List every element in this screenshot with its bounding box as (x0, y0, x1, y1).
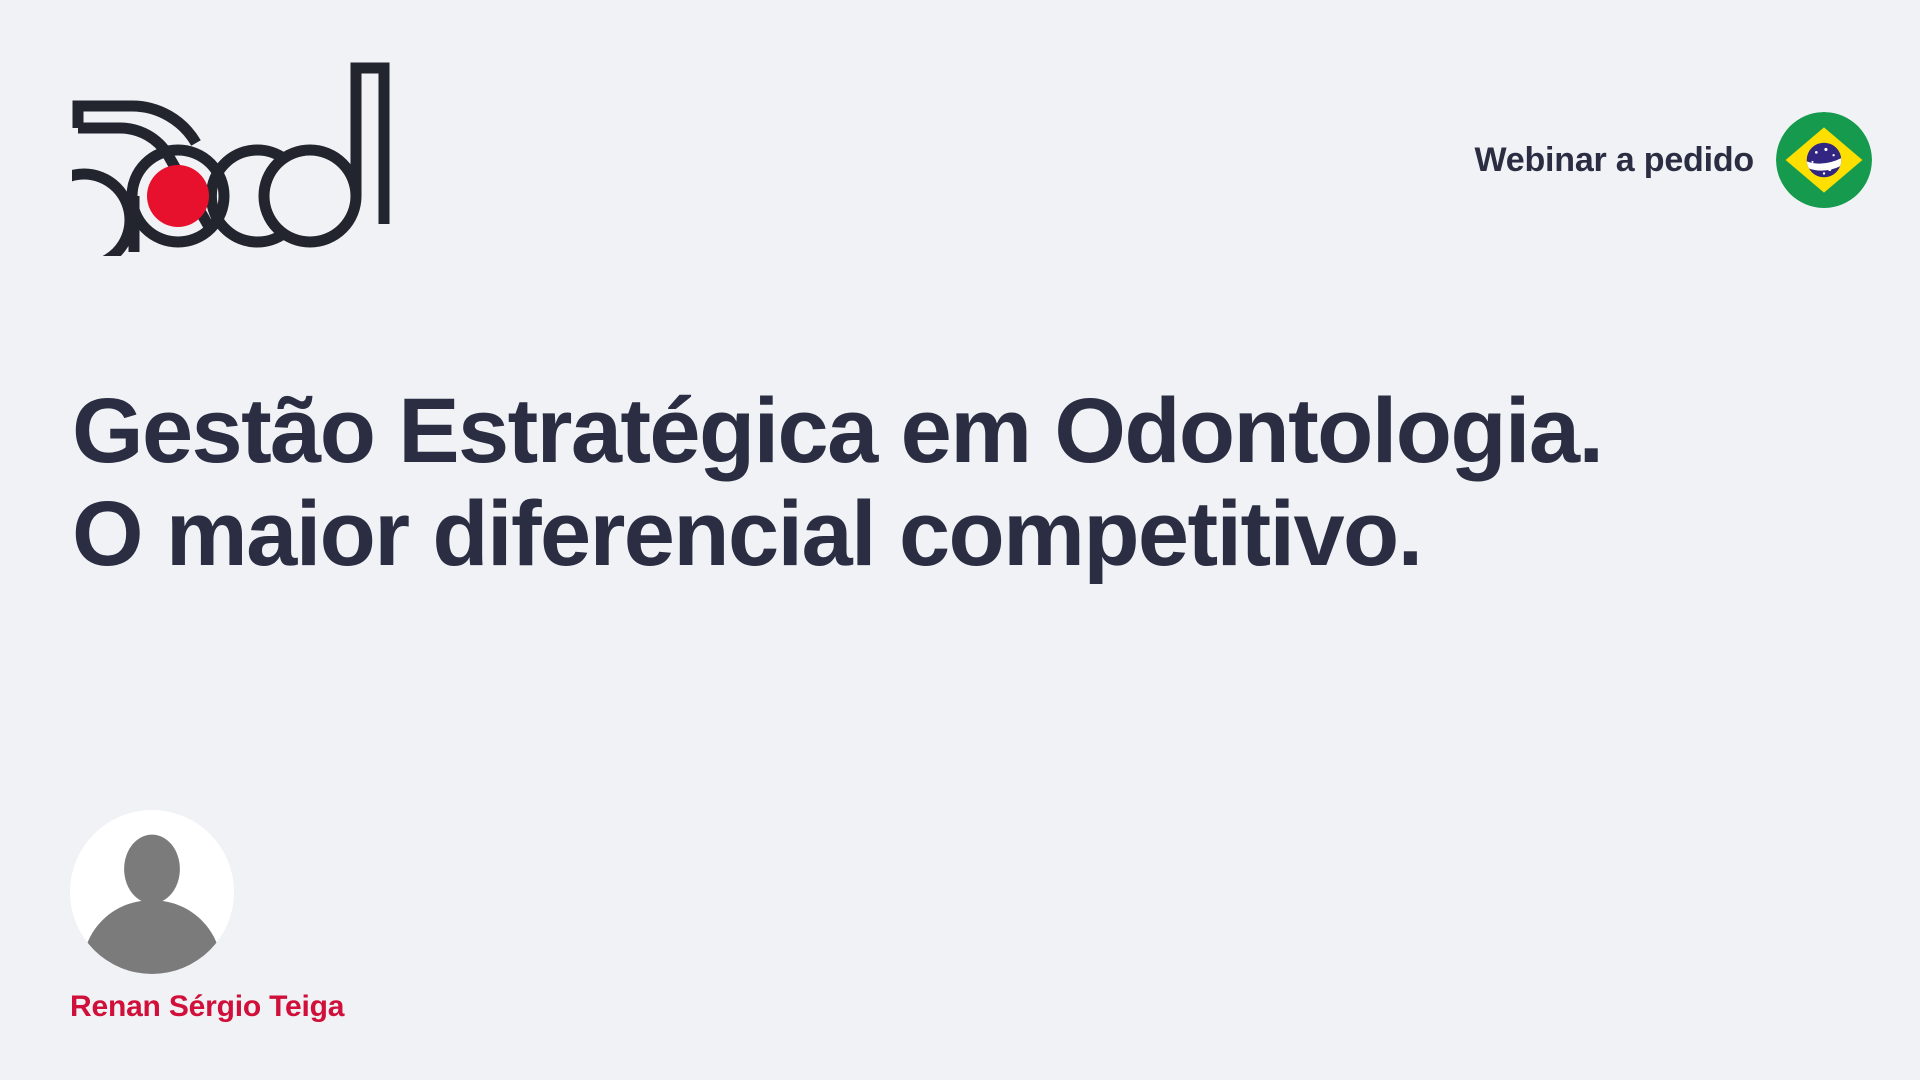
page-title-line-1: Gestão Estratégica em Odontologia. (72, 380, 1872, 483)
webinar-status: Webinar a pedido (1474, 112, 1872, 208)
avatar (70, 810, 234, 974)
brazil-flag-icon (1776, 112, 1872, 208)
page-title-line-2: O maior diferencial competitivo. (72, 483, 1872, 586)
apcd-logo-dot (147, 165, 209, 227)
apcd-logo[interactable] (72, 56, 392, 256)
webinar-status-label: Webinar a pedido (1474, 143, 1754, 177)
page-title: Gestão Estratégica em Odontologia. O mai… (72, 380, 1872, 586)
speaker-block: Renan Sérgio Teiga (70, 810, 344, 1022)
webinar-slide: Webinar a pedido (0, 0, 1920, 1080)
speaker-name: Renan Sérgio Teiga (70, 992, 344, 1022)
